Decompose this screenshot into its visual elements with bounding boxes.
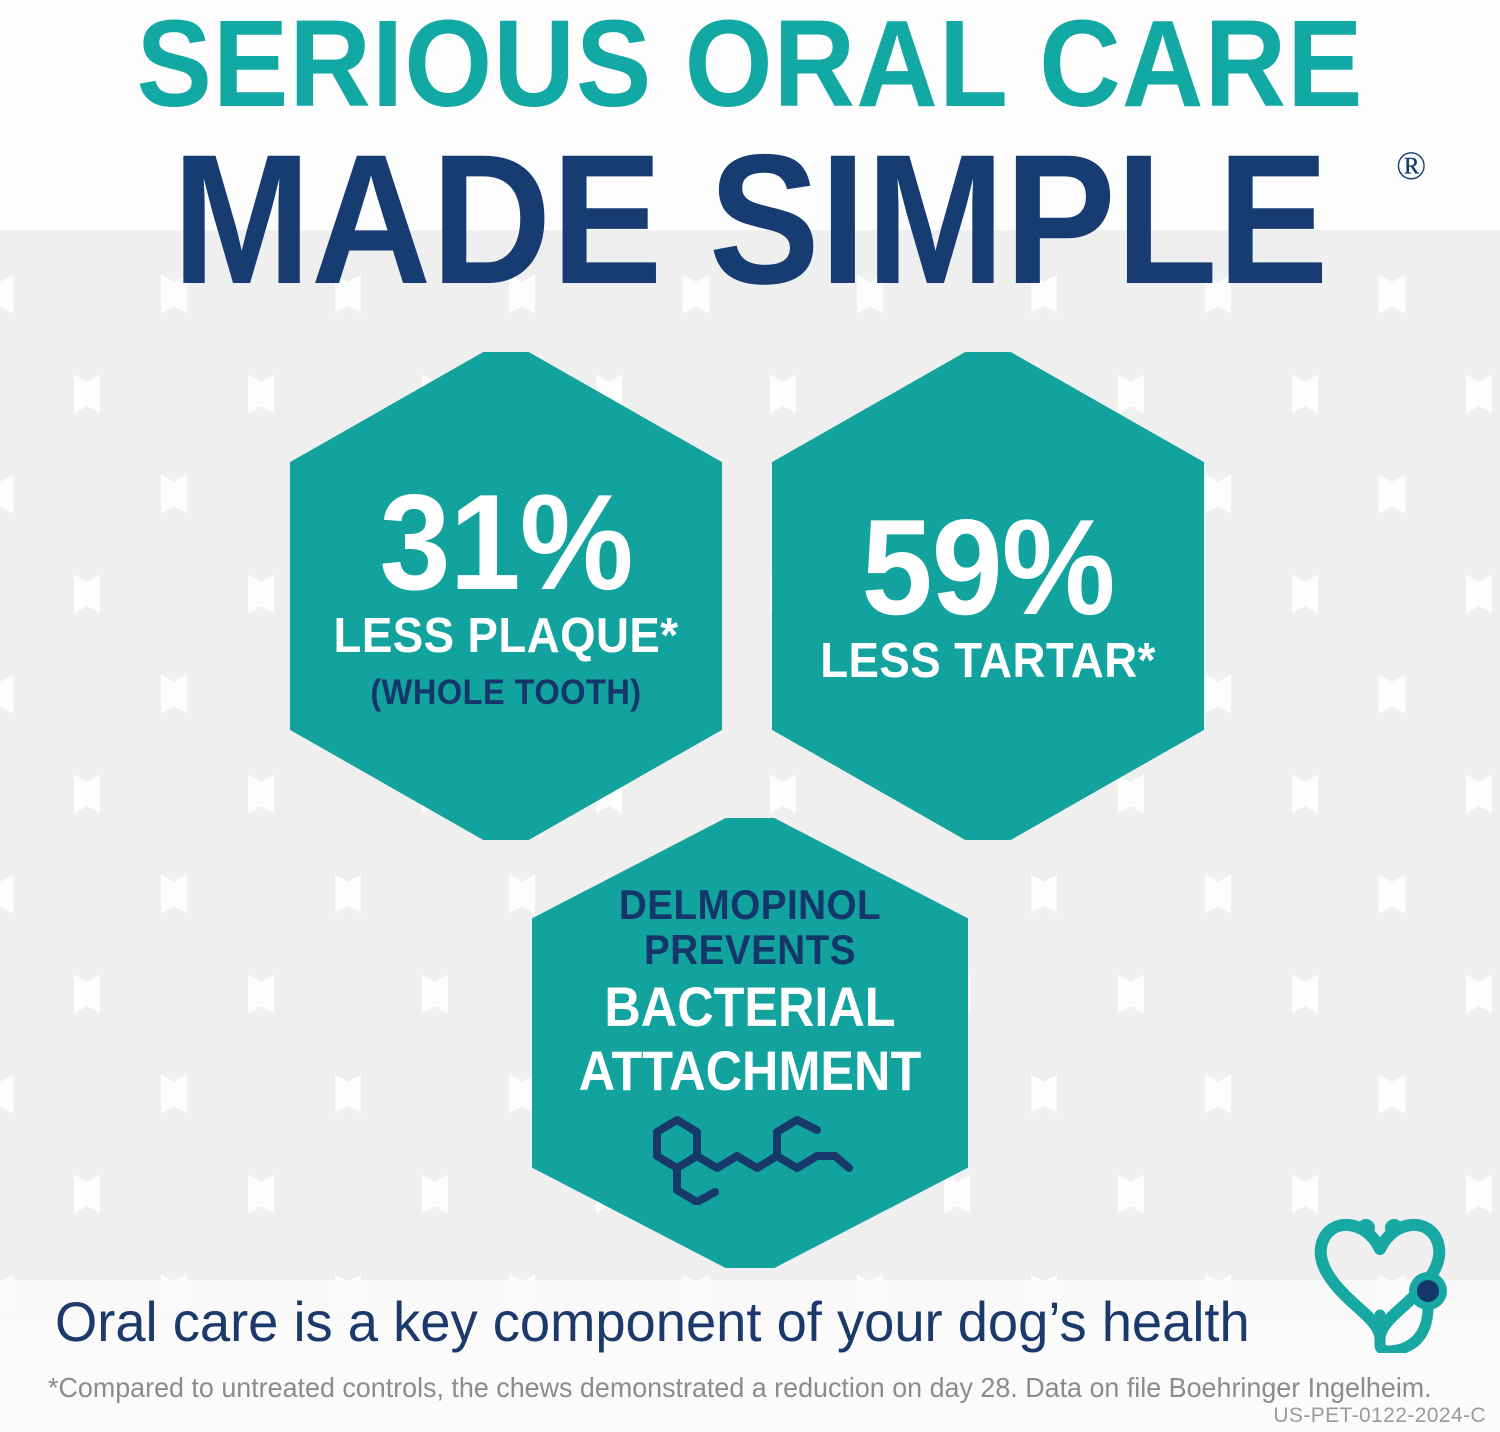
stat-hexagon-less-plaque: 31% LESS PLAQUE* (WHOLE TOOTH) <box>290 352 722 840</box>
document-code: US-PET-0122-2024-C <box>1273 1404 1486 1428</box>
footnote-text: *Compared to untreated controls, the che… <box>48 1372 1402 1404</box>
stat-number: 59% <box>785 504 1191 630</box>
tagline-text: Oral care is a key component of your dog… <box>55 1292 1316 1352</box>
stat-label: LESS PLAQUE* <box>305 609 707 663</box>
headline-line-1: SERIOUS ORAL CARE <box>60 6 1440 124</box>
mechanism-line-3: BACTERIAL <box>554 978 946 1036</box>
headline-line-2: MADE SIMPLE <box>172 128 1328 313</box>
heart-stethoscope-icon <box>1300 1203 1460 1353</box>
mechanism-line-1: DELMOPINOL <box>549 882 950 927</box>
mechanism-content: DELMOPINOL PREVENTS BACTERIAL ATTACHMENT <box>532 882 968 1205</box>
stat-sublabel: (WHOLE TOOTH) <box>305 673 707 713</box>
delmopinol-molecule-icon <box>532 1110 968 1205</box>
stat-hexagon-less-tartar: 59% LESS TARTAR* <box>772 352 1204 840</box>
headline-line-2-wrapper: MADE SIMPLE ® <box>108 128 1393 313</box>
mechanism-line-4: ATTACHMENT <box>554 1042 946 1100</box>
registered-trademark-icon: ® <box>1396 142 1426 189</box>
stat-content: 31% LESS PLAQUE* (WHOLE TOOTH) <box>290 479 722 713</box>
oral-care-infographic: SERIOUS ORAL CARE MADE SIMPLE ® 31% LESS… <box>0 0 1500 1432</box>
mechanism-line-2: PREVENTS <box>549 927 950 972</box>
stat-content: 59% LESS TARTAR* <box>772 504 1204 688</box>
stat-label: LESS TARTAR* <box>787 634 1189 688</box>
headline-block: SERIOUS ORAL CARE MADE SIMPLE ® <box>0 0 1500 313</box>
mechanism-hexagon-delmopinol: DELMOPINOL PREVENTS BACTERIAL ATTACHMENT <box>532 818 968 1268</box>
stat-number: 31% <box>303 479 709 605</box>
